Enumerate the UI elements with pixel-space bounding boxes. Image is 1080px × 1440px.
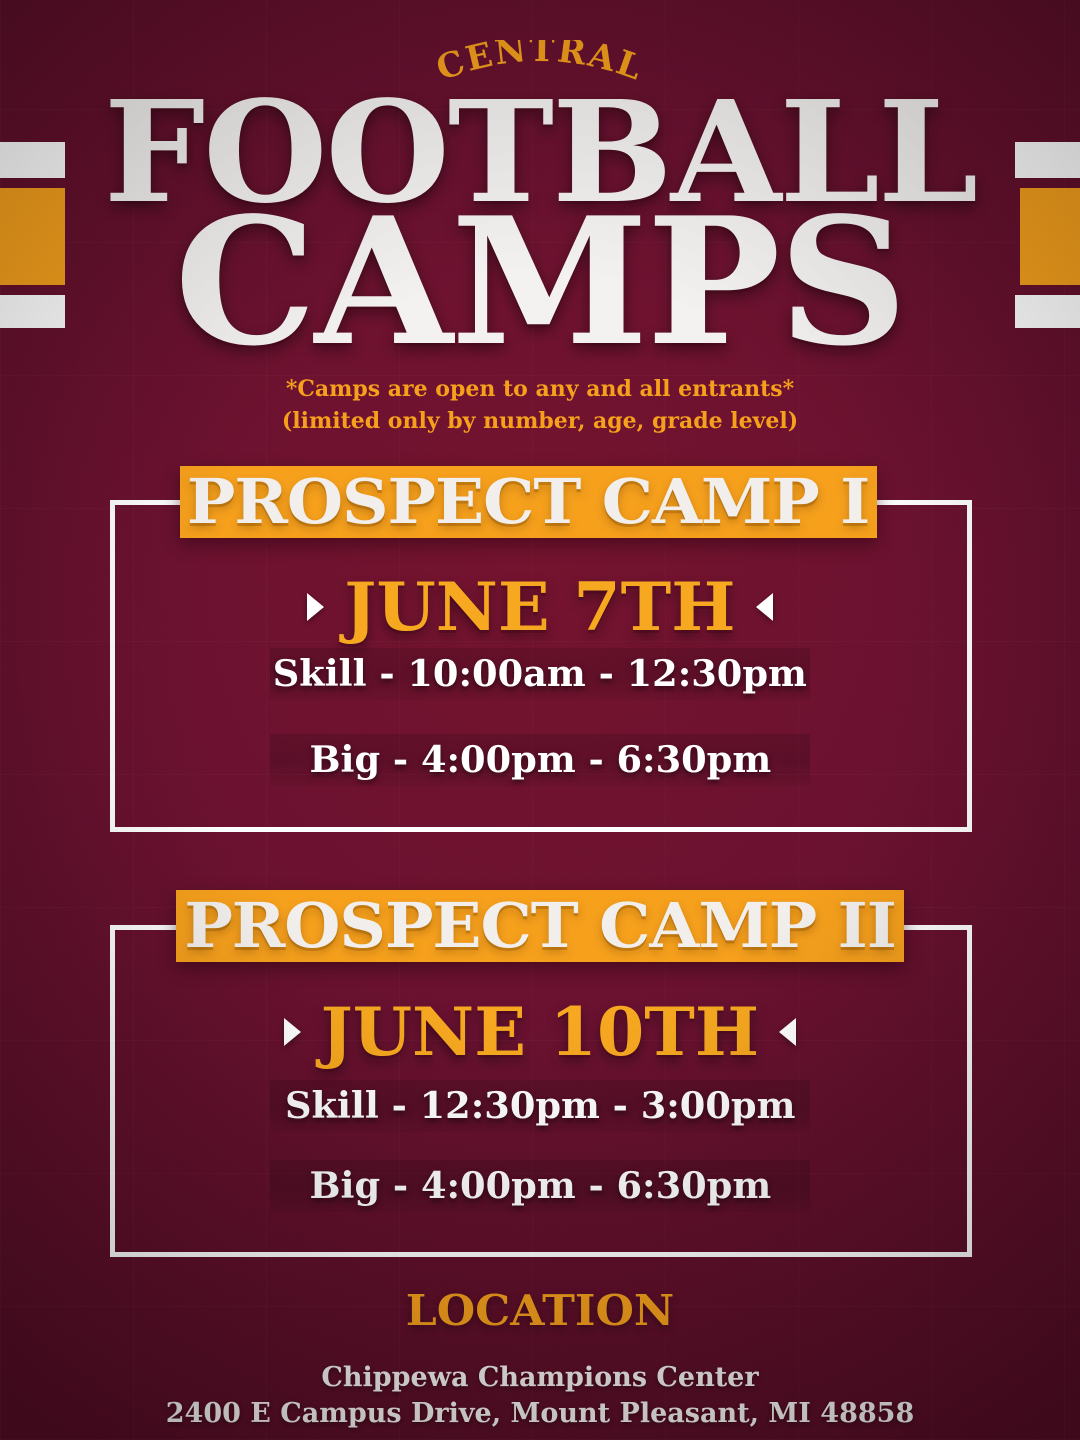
arrow-left-icon	[756, 593, 773, 621]
location-address: 2400 E Campus Drive, Mount Pleasant, MI …	[0, 1396, 1080, 1432]
disclaimer-line-2: (limited only by number, age, grade leve…	[0, 406, 1080, 438]
camp-2-session-1-label: Skill - 12:30pm - 3:00pm	[285, 1088, 795, 1124]
camp-1-session-1: Skill - 10:00am - 12:30pm	[270, 648, 810, 700]
arrow-right-icon	[307, 593, 324, 621]
disclaimer-line-1: *Camps are open to any and all entrants*	[0, 374, 1080, 406]
location-venue: Chippewa Champions Center	[0, 1360, 1080, 1396]
arrow-right-icon	[284, 1018, 301, 1046]
camp-2-session-1: Skill - 12:30pm - 3:00pm	[270, 1080, 810, 1132]
location-heading: LOCATION	[0, 1290, 1080, 1332]
camp-2-banner-label: PROSPECT CAMP II	[184, 895, 896, 957]
camp-1-banner: PROSPECT CAMP I	[180, 466, 877, 538]
camp-1-session-1-label: Skill - 10:00am - 12:30pm	[273, 656, 807, 692]
entrants-disclaimer: *Camps are open to any and all entrants*…	[0, 374, 1080, 438]
camp-2-banner: PROSPECT CAMP II	[176, 890, 904, 962]
title-line-camps: CAMPS	[0, 211, 1080, 355]
camp-2-session-2: Big - 4:00pm - 6:30pm	[270, 1160, 810, 1212]
camp-2-date-row: JUNE 10TH	[0, 997, 1080, 1067]
camp-2-date: JUNE 10TH	[321, 999, 759, 1065]
camp-1-session-2-label: Big - 4:00pm - 6:30pm	[309, 742, 771, 778]
page-title: FOOTBALL CAMPS	[0, 96, 1080, 354]
location-block: LOCATION Chippewa Champions Center 2400 …	[0, 1290, 1080, 1433]
arrow-left-icon	[779, 1018, 796, 1046]
camp-1-date: JUNE 7TH	[344, 574, 735, 640]
camp-1-session-2: Big - 4:00pm - 6:30pm	[270, 734, 810, 786]
football-camps-flyer: CENTRAL FOOTBALL CAMPS *Camps are open t…	[0, 0, 1080, 1440]
camp-1-date-row: JUNE 7TH	[0, 572, 1080, 642]
camp-2-session-2-label: Big - 4:00pm - 6:30pm	[309, 1168, 771, 1204]
camp-1-banner-label: PROSPECT CAMP I	[187, 471, 869, 533]
